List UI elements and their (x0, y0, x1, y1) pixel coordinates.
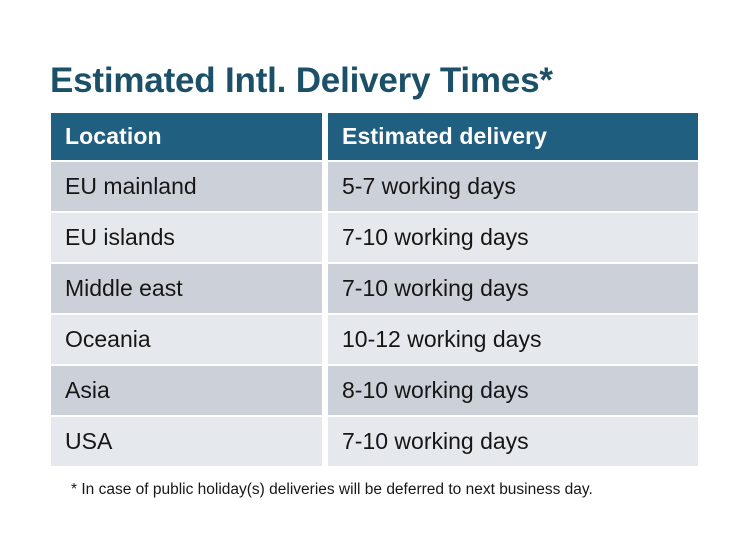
cell-location-text: EU mainland (51, 173, 322, 200)
cell-location-text: EU islands (51, 224, 322, 251)
cell-estimated-delivery-text: 10-12 working days (328, 326, 698, 353)
cell-estimated-delivery-text: 5-7 working days (328, 173, 698, 200)
cell-estimated-delivery: 10-12 working days (328, 313, 698, 364)
column-header-location-label: Location (51, 123, 322, 150)
footnote: * In case of public holiday(s) deliverie… (71, 479, 593, 501)
cell-estimated-delivery: 7-10 working days (328, 211, 698, 262)
cell-estimated-delivery: 8-10 working days (328, 364, 698, 415)
table-header: Location Estimated delivery (51, 113, 698, 160)
cell-estimated-delivery: 7-10 working days (328, 415, 698, 466)
cell-estimated-delivery-text: 7-10 working days (328, 275, 698, 302)
cell-location: EU islands (51, 211, 328, 262)
cell-location: Asia (51, 364, 328, 415)
table-row: EU islands 7-10 working days (51, 211, 698, 262)
cell-estimated-delivery: 5-7 working days (328, 160, 698, 211)
cell-location-text: Asia (51, 377, 322, 404)
table-row: Asia 8-10 working days (51, 364, 698, 415)
table-row: Middle east 7-10 working days (51, 262, 698, 313)
column-header-location: Location (51, 113, 328, 160)
cell-estimated-delivery-text: 7-10 working days (328, 224, 698, 251)
cell-location: USA (51, 415, 328, 466)
cell-location: Oceania (51, 313, 328, 364)
column-header-estimated-delivery-label: Estimated delivery (328, 123, 698, 150)
table-header-row: Location Estimated delivery (51, 113, 698, 160)
cell-location: Middle east (51, 262, 328, 313)
table-row: EU mainland 5-7 working days (51, 160, 698, 211)
cell-estimated-delivery: 7-10 working days (328, 262, 698, 313)
table-body: EU mainland 5-7 working days EU islands … (51, 160, 698, 466)
cell-location-text: Oceania (51, 326, 322, 353)
cell-estimated-delivery-text: 8-10 working days (328, 377, 698, 404)
delivery-times-page: Estimated Intl. Delivery Times* Location… (0, 0, 745, 536)
table-row: Oceania 10-12 working days (51, 313, 698, 364)
cell-location: EU mainland (51, 160, 328, 211)
cell-location-text: Middle east (51, 275, 322, 302)
cell-estimated-delivery-text: 7-10 working days (328, 428, 698, 455)
delivery-times-table: Location Estimated delivery EU mainland … (51, 113, 698, 466)
table-row: USA 7-10 working days (51, 415, 698, 466)
column-header-estimated-delivery: Estimated delivery (328, 113, 698, 160)
cell-location-text: USA (51, 428, 322, 455)
page-title: Estimated Intl. Delivery Times* (50, 59, 553, 103)
